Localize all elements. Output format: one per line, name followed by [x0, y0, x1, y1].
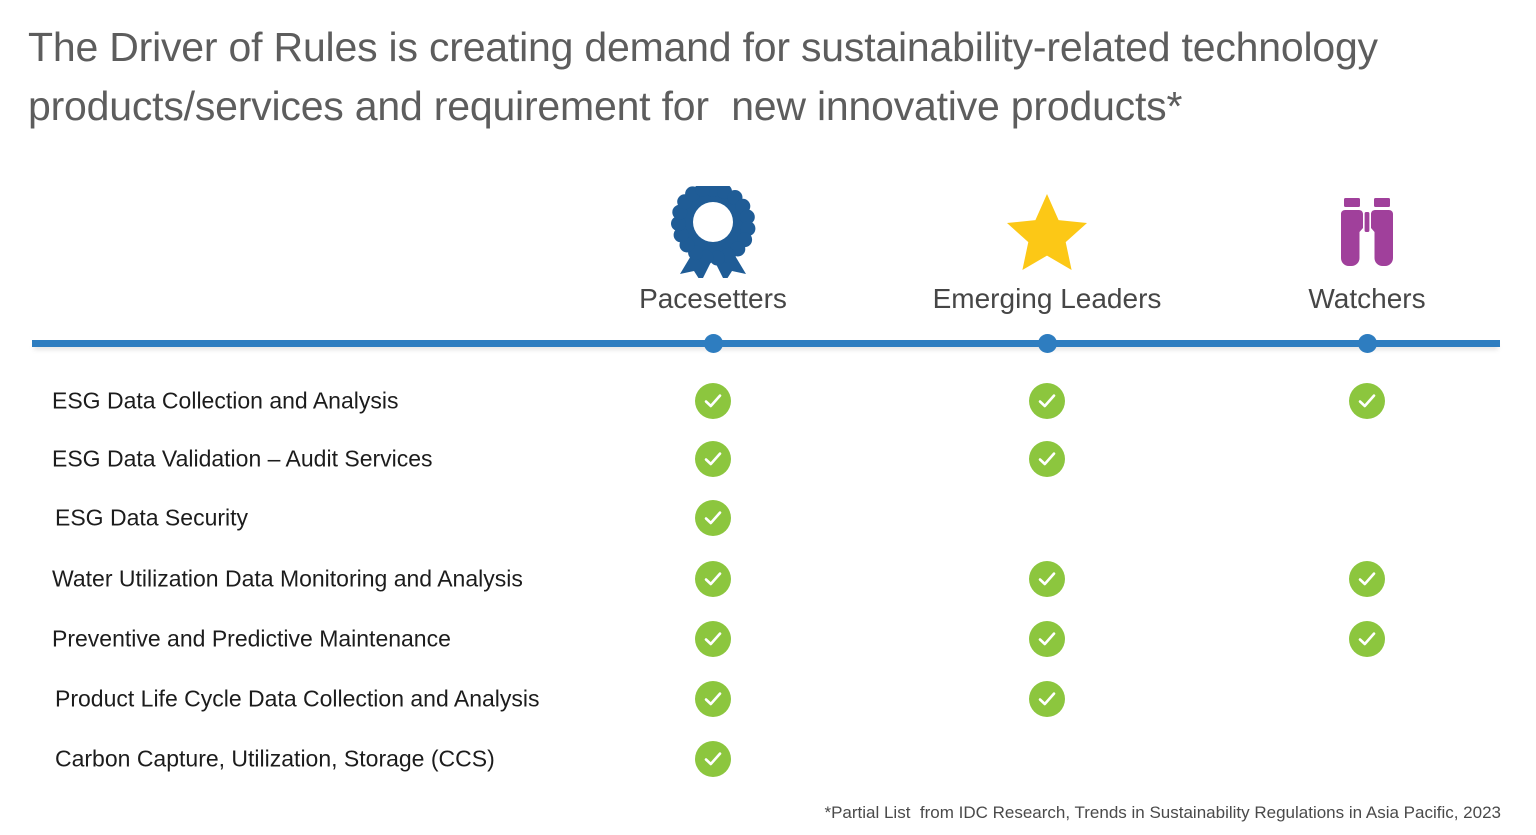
capability-matrix: ESG Data Collection and Analysis ESG Dat…	[0, 372, 1536, 789]
table-row: Product Life Cycle Data Collection and A…	[0, 669, 1536, 729]
check-circle-icon	[1029, 441, 1065, 477]
star-icon	[897, 186, 1197, 278]
cell-watchers	[1347, 381, 1387, 421]
cell-watchers	[1347, 439, 1387, 479]
table-row: ESG Data Security	[0, 488, 1536, 548]
column-header-group: Pacesetters Emerging Leaders Watchers	[0, 186, 1536, 331]
check-circle-icon	[1029, 621, 1065, 657]
cell-pacesetters	[693, 559, 733, 599]
timeline-axis	[32, 340, 1500, 347]
cell-emerging-leaders	[1027, 739, 1067, 779]
cell-watchers	[1347, 498, 1387, 538]
row-label: ESG Data Security	[55, 505, 248, 532]
cell-emerging-leaders	[1027, 619, 1067, 659]
source-footnote: *Partial List from IDC Research, Trends …	[824, 803, 1501, 823]
cell-watchers	[1347, 679, 1387, 719]
binoculars-icon	[1217, 186, 1517, 278]
cell-pacesetters	[693, 381, 733, 421]
check-circle-icon	[1349, 383, 1385, 419]
cell-emerging-leaders	[1027, 679, 1067, 719]
row-label: Product Life Cycle Data Collection and A…	[55, 686, 540, 713]
table-row: Preventive and Predictive Maintenance	[0, 609, 1536, 669]
cell-emerging-leaders	[1027, 559, 1067, 599]
axis-marker-dot-pacesetters[interactable]	[704, 334, 723, 353]
row-label: ESG Data Collection and Analysis	[52, 388, 398, 415]
column-label: Pacesetters	[563, 282, 863, 316]
cell-watchers	[1347, 739, 1387, 779]
axis-marker-dot-emerging-leaders[interactable]	[1038, 334, 1057, 353]
table-row: Water Utilization Data Monitoring and An…	[0, 548, 1536, 609]
cell-watchers	[1347, 559, 1387, 599]
table-row: ESG Data Collection and Analysis	[0, 372, 1536, 430]
cell-emerging-leaders	[1027, 498, 1067, 538]
check-circle-icon	[695, 441, 731, 477]
cell-pacesetters	[693, 439, 733, 479]
cell-pacesetters	[693, 619, 733, 659]
table-row: Carbon Capture, Utilization, Storage (CC…	[0, 729, 1536, 789]
cell-pacesetters	[693, 739, 733, 779]
row-label: ESG Data Validation – Audit Services	[52, 446, 433, 473]
row-label: Water Utilization Data Monitoring and An…	[52, 565, 523, 592]
cell-emerging-leaders	[1027, 439, 1067, 479]
check-circle-icon	[695, 741, 731, 777]
check-circle-icon	[1029, 383, 1065, 419]
check-circle-icon	[695, 621, 731, 657]
column-header-emerging-leaders[interactable]: Emerging Leaders	[897, 186, 1197, 316]
check-circle-icon	[1029, 561, 1065, 597]
cell-watchers	[1347, 619, 1387, 659]
column-label: Emerging Leaders	[897, 282, 1197, 316]
check-circle-icon	[695, 681, 731, 717]
check-circle-icon	[1349, 561, 1385, 597]
cell-pacesetters	[693, 498, 733, 538]
check-circle-icon	[695, 500, 731, 536]
award-ribbon-icon	[563, 186, 863, 278]
cell-emerging-leaders	[1027, 381, 1067, 421]
row-label: Carbon Capture, Utilization, Storage (CC…	[55, 746, 495, 773]
axis-marker-dot-watchers[interactable]	[1358, 334, 1377, 353]
check-circle-icon	[695, 383, 731, 419]
column-header-pacesetters[interactable]: Pacesetters	[563, 186, 863, 316]
page-title: The Driver of Rules is creating demand f…	[28, 18, 1508, 136]
check-circle-icon	[695, 561, 731, 597]
cell-pacesetters	[693, 679, 733, 719]
column-label: Watchers	[1217, 282, 1517, 316]
table-row: ESG Data Validation – Audit Services	[0, 430, 1536, 488]
column-header-watchers[interactable]: Watchers	[1217, 186, 1517, 316]
check-circle-icon	[1029, 681, 1065, 717]
row-label: Preventive and Predictive Maintenance	[52, 626, 451, 653]
check-circle-icon	[1349, 621, 1385, 657]
